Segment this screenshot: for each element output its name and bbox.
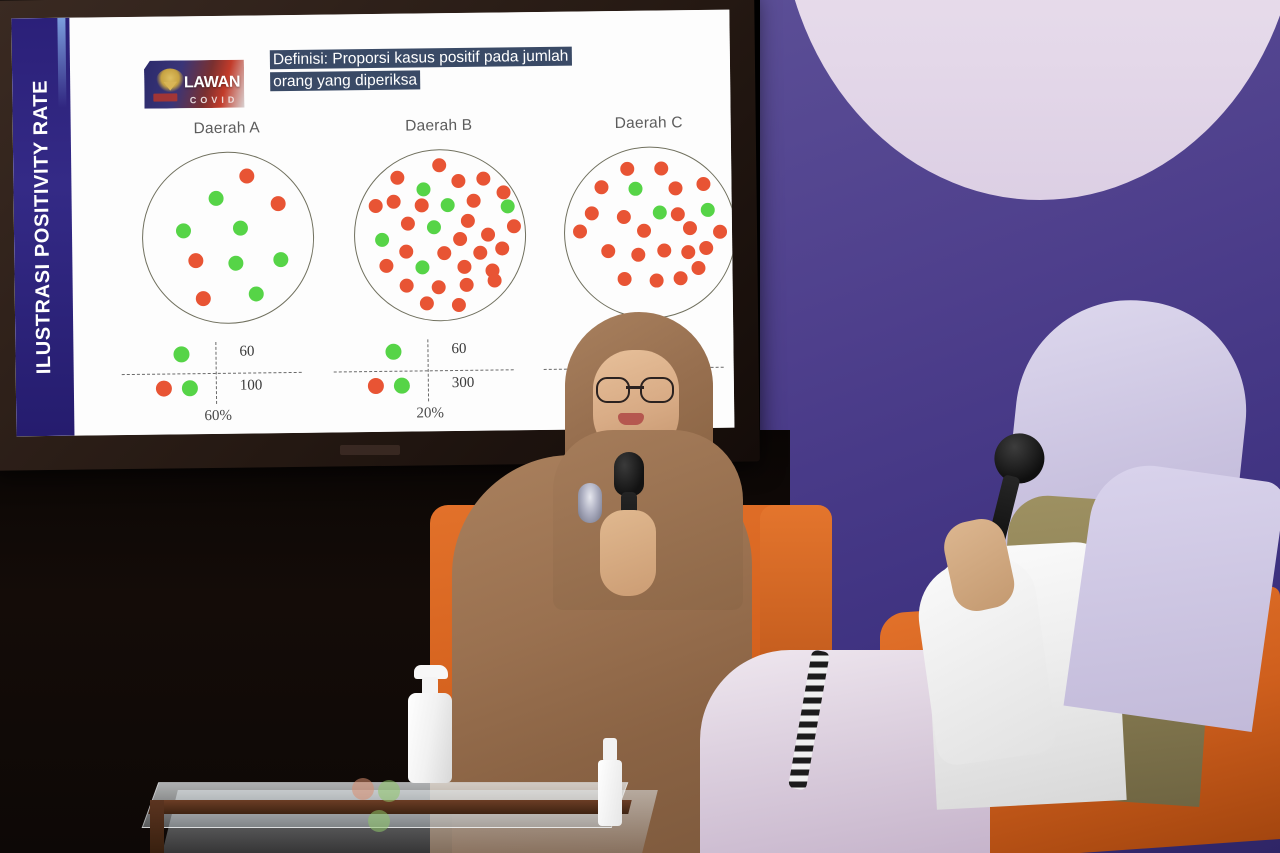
- positivity-percent: 60%: [130, 407, 306, 426]
- fraction-divider-horizontal: [334, 369, 514, 372]
- population-dot-negative: [427, 220, 441, 234]
- population-dot-positive: [620, 162, 634, 176]
- region-population-circle: [353, 148, 527, 322]
- population-dot-positive: [674, 271, 688, 285]
- population-dot-positive: [617, 210, 631, 224]
- population-dot-positive: [683, 221, 697, 235]
- population-dot-positive: [239, 168, 254, 183]
- region-daerah-b: Daerah B 60 300 20%: [331, 116, 551, 415]
- population-dot-positive: [271, 196, 286, 211]
- table-reflection-dot: [352, 778, 374, 800]
- speaker-right-hijab-drape: [1064, 458, 1280, 732]
- eyeglasses-icon: [596, 377, 674, 399]
- population-dot-positive: [399, 245, 413, 259]
- population-dot-positive: [495, 241, 509, 255]
- population-dot-positive: [473, 246, 487, 260]
- garuda-emblem-icon: [156, 68, 184, 92]
- table-reflection-dot: [378, 780, 400, 802]
- population-dot-positive: [488, 273, 502, 287]
- logo-primary-text: LAWAN: [184, 74, 240, 93]
- region-population-circle: [563, 146, 734, 320]
- logo-ribbon: [153, 93, 177, 101]
- tv-brand-logo: [340, 445, 400, 455]
- population-dot-positive: [432, 158, 446, 172]
- population-dot-negative: [441, 198, 455, 212]
- spray-bottle[interactable]: [598, 738, 622, 826]
- population-dot-positive: [631, 248, 645, 262]
- population-dot-positive: [460, 278, 474, 292]
- population-dot-positive: [453, 232, 467, 246]
- fraction-divider-horizontal: [122, 372, 302, 375]
- population-dot-positive: [188, 253, 203, 268]
- population-dot-positive: [452, 298, 466, 312]
- population-dot-positive: [437, 246, 451, 260]
- slide-title: Definisi: Proporsi kasus positif pada ju…: [270, 45, 601, 93]
- logo-secondary-text: COVID: [190, 95, 239, 106]
- population-dot-positive: [713, 225, 727, 239]
- population-dot-negative: [233, 221, 248, 236]
- legend-dot-tested-red: [156, 380, 172, 396]
- bottle-body: [598, 760, 622, 826]
- speaker-left-mouth: [618, 413, 644, 425]
- speaker-left-hand: [600, 510, 656, 596]
- population-dot-positive: [457, 260, 471, 274]
- fraction-numerator: 60: [239, 343, 254, 360]
- fraction-numerator: 60: [451, 341, 466, 358]
- legend-dot-tested-green: [394, 378, 410, 394]
- legend-dot-positive: [173, 346, 189, 362]
- population-dot-positive: [601, 244, 615, 258]
- region-title: Daerah C: [541, 113, 735, 134]
- population-dot-positive: [420, 296, 434, 310]
- population-dot-positive: [585, 206, 599, 220]
- population-dot-positive: [594, 180, 608, 194]
- legend-dot-tested-red: [368, 378, 384, 394]
- population-dot-positive: [461, 214, 475, 228]
- population-dot-positive: [369, 199, 383, 213]
- region-population-circle: [141, 151, 315, 325]
- population-dot-positive: [637, 224, 651, 238]
- population-dot-negative: [228, 256, 243, 271]
- population-dot-positive: [654, 161, 668, 175]
- population-dot-negative: [176, 223, 191, 238]
- population-dot-positive: [390, 171, 404, 185]
- positivity-percent: 20%: [342, 404, 518, 423]
- fraction-denominator: 100: [240, 377, 263, 394]
- population-dot-negative: [653, 205, 667, 219]
- population-dot-positive: [496, 185, 510, 199]
- population-dot-positive: [671, 207, 685, 221]
- slide-sidebar-title: ILUSTRASI POSITIVITY RATE: [30, 80, 57, 375]
- population-dot-positive: [401, 217, 415, 231]
- table-reflection-dot: [368, 810, 390, 832]
- population-dot-positive: [691, 261, 705, 275]
- population-dot-positive: [668, 181, 682, 195]
- region-title: Daerah B: [331, 116, 547, 137]
- population-dot-positive: [415, 198, 429, 212]
- population-dot-positive: [451, 174, 465, 188]
- population-dot-positive: [467, 194, 481, 208]
- population-dot-positive: [507, 219, 521, 233]
- brooch-accessory: [578, 483, 602, 523]
- fraction-denominator: 300: [452, 375, 475, 392]
- legend-dot-positive: [385, 344, 401, 360]
- lawan-covid-logo: LAWAN COVID: [144, 60, 245, 109]
- region-legend: 60 300 20%: [341, 338, 542, 414]
- microphone-head: [614, 452, 644, 496]
- spray-cap[interactable]: [603, 738, 617, 762]
- population-dot-positive: [657, 243, 671, 257]
- population-dot-positive: [400, 279, 414, 293]
- coffee-table-frame: [148, 800, 631, 814]
- population-dot-positive: [196, 291, 211, 306]
- bottle-body: [408, 693, 452, 783]
- scene-stage: P Covid19.go.id d19.go.id Covid19 Covid1…: [0, 0, 1280, 853]
- population-dot-positive: [387, 195, 401, 209]
- legend-dot-tested-green: [182, 380, 198, 396]
- region-title: Daerah A: [119, 118, 335, 139]
- population-dot-negative: [501, 199, 515, 213]
- population-dot-negative: [208, 191, 223, 206]
- population-dot-negative: [628, 182, 642, 196]
- population-dot-positive: [573, 224, 587, 238]
- population-dot-positive: [481, 228, 495, 242]
- population-dot-negative: [249, 286, 264, 301]
- population-dot-negative: [375, 233, 389, 247]
- population-dot-negative: [273, 252, 288, 267]
- slide-sidebar: ILUSTRASI POSITIVITY RATE: [11, 18, 74, 437]
- population-dot-negative: [701, 203, 715, 217]
- population-dot-positive: [699, 241, 713, 255]
- population-dot-negative: [415, 260, 429, 274]
- population-dot-positive: [379, 259, 393, 273]
- population-dot-positive: [618, 272, 632, 286]
- population-dot-negative: [416, 182, 430, 196]
- population-dot-positive: [476, 172, 490, 186]
- population-dot-positive: [681, 245, 695, 259]
- screen-glare: [57, 18, 66, 108]
- slide-title-text: Definisi: Proporsi kasus positif pada ju…: [270, 47, 572, 92]
- population-dot-positive: [650, 273, 664, 287]
- coffee-table-leg: [150, 800, 164, 853]
- region-daerah-a: Daerah A 60 100 60%: [119, 118, 339, 417]
- hand-sanitizer-bottle[interactable]: [408, 655, 452, 783]
- population-dot-positive: [432, 280, 446, 294]
- population-dot-positive: [696, 177, 710, 191]
- region-legend: 60 100 60%: [129, 341, 330, 417]
